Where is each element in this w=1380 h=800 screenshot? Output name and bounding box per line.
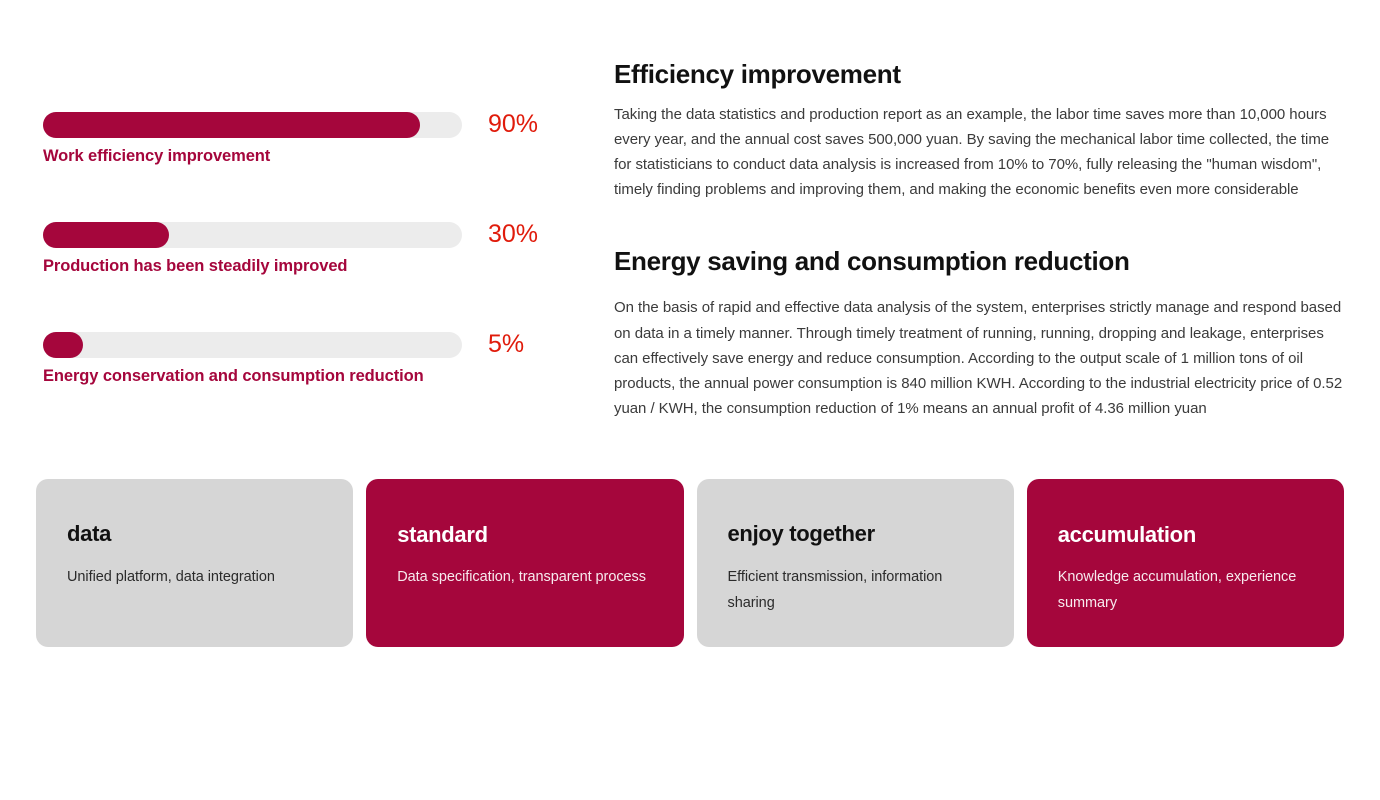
section-title-efficiency-improvement: Efficiency improvement — [614, 58, 1346, 92]
feature-card-title-enjoy-together: enjoy together — [728, 522, 992, 546]
metric-row: 30% — [43, 220, 573, 249]
section-body-efficiency-improvement: Taking the data statistics and productio… — [614, 102, 1346, 203]
feature-card-desc-standard: Data specification, transparent process — [397, 565, 657, 591]
metric-row: 90% — [43, 110, 573, 139]
feature-card-desc-accumulation: Knowledge accumulation, experience summa… — [1058, 565, 1318, 617]
metric-row: 5% — [43, 330, 573, 359]
feature-card-accumulation[interactable]: accumulation Knowledge accumulation, exp… — [1027, 479, 1344, 647]
feature-card-title-standard: standard — [397, 523, 661, 547]
section-body-energy-saving: On the basis of rapid and effective data… — [614, 295, 1346, 421]
metrics-panel: 90% Work efficiency improvement 30% Prod… — [43, 110, 573, 440]
metric-item: 30% Production has been steadily improve… — [43, 220, 573, 330]
feature-card-enjoy-together[interactable]: enjoy together Efficient transmission, i… — [697, 479, 1014, 647]
feature-cards-row: data Unified platform, data integration … — [36, 479, 1344, 647]
progress-track-energy-conservation — [43, 332, 462, 358]
progress-track-production — [43, 222, 462, 248]
slide-root: 90% Work efficiency improvement 30% Prod… — [0, 0, 1380, 800]
metric-percent-energy-conservation: 5% — [488, 330, 524, 359]
metric-percent-production: 30% — [488, 220, 538, 249]
metric-label-energy-conservation: Energy conservation and consumption redu… — [43, 367, 573, 386]
section-efficiency-improvement: Efficiency improvement Taking the data s… — [614, 58, 1346, 203]
progress-track-work-efficiency — [43, 112, 462, 138]
feature-card-standard[interactable]: standard Data specification, transparent… — [366, 479, 683, 647]
metric-item: 90% Work efficiency improvement — [43, 110, 573, 220]
progress-fill-production — [43, 222, 169, 248]
text-panel: Efficiency improvement Taking the data s… — [614, 58, 1346, 421]
metric-label-production: Production has been steadily improved — [43, 257, 573, 276]
feature-card-title-accumulation: accumulation — [1058, 523, 1322, 547]
progress-fill-energy-conservation — [43, 332, 83, 358]
section-title-energy-saving: Energy saving and consumption reduction — [614, 245, 1346, 279]
feature-card-title-data: data — [67, 522, 331, 546]
feature-card-desc-enjoy-together: Efficient transmission, information shar… — [728, 565, 988, 617]
metric-item: 5% Energy conservation and consumption r… — [43, 330, 573, 440]
progress-fill-work-efficiency — [43, 112, 420, 138]
metric-label-work-efficiency: Work efficiency improvement — [43, 147, 573, 166]
metric-percent-work-efficiency: 90% — [488, 110, 538, 139]
feature-card-desc-data: Unified platform, data integration — [67, 565, 327, 591]
section-energy-saving: Energy saving and consumption reduction … — [614, 245, 1346, 422]
feature-card-data[interactable]: data Unified platform, data integration — [36, 479, 353, 647]
